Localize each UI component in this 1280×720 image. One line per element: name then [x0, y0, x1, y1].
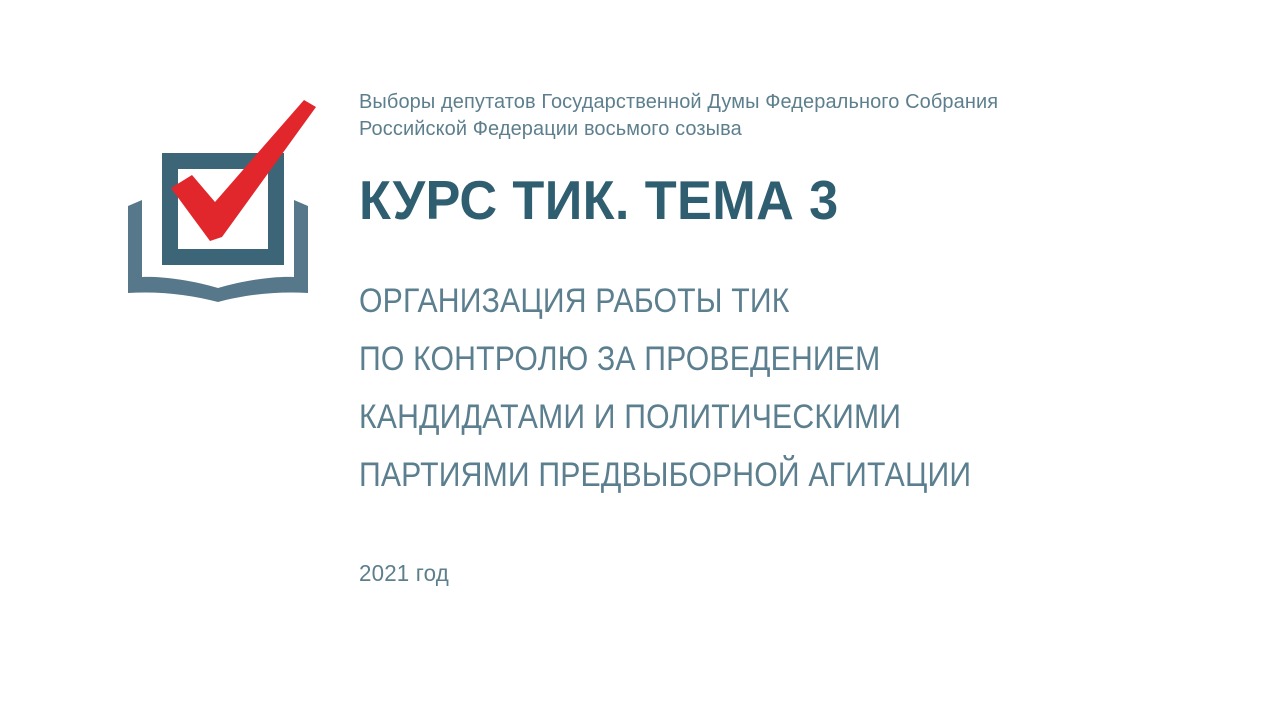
- subtitle-line: ПАРТИЯМИ ПРЕДВЫБОРНОЙ АГИТАЦИИ: [359, 446, 1138, 504]
- text-column: Выборы депутатов Государственной Думы Фе…: [359, 88, 1249, 588]
- ballot-box-book-logo: [118, 88, 328, 303]
- election-kicker: Выборы депутатов Государственной Думы Фе…: [359, 88, 1227, 142]
- subtitle-line: ПО КОНТРОЛЮ ЗА ПРОВЕДЕНИЕМ: [359, 330, 1138, 388]
- page-title: КУРС ТИК. ТЕМА 3: [359, 142, 1205, 231]
- subtitle-block: ОРГАНИЗАЦИЯ РАБОТЫ ТИК ПО КОНТРОЛЮ ЗА ПР…: [359, 231, 1249, 504]
- subtitle-line: КАНДИДАТАМИ И ПОЛИТИЧЕСКИМИ: [359, 388, 1138, 446]
- subtitle-line: ОРГАНИЗАЦИЯ РАБОТЫ ТИК: [359, 272, 1138, 330]
- title-slide: Выборы депутатов Государственной Думы Фе…: [0, 0, 1280, 720]
- year-label: 2021 год: [359, 504, 1222, 588]
